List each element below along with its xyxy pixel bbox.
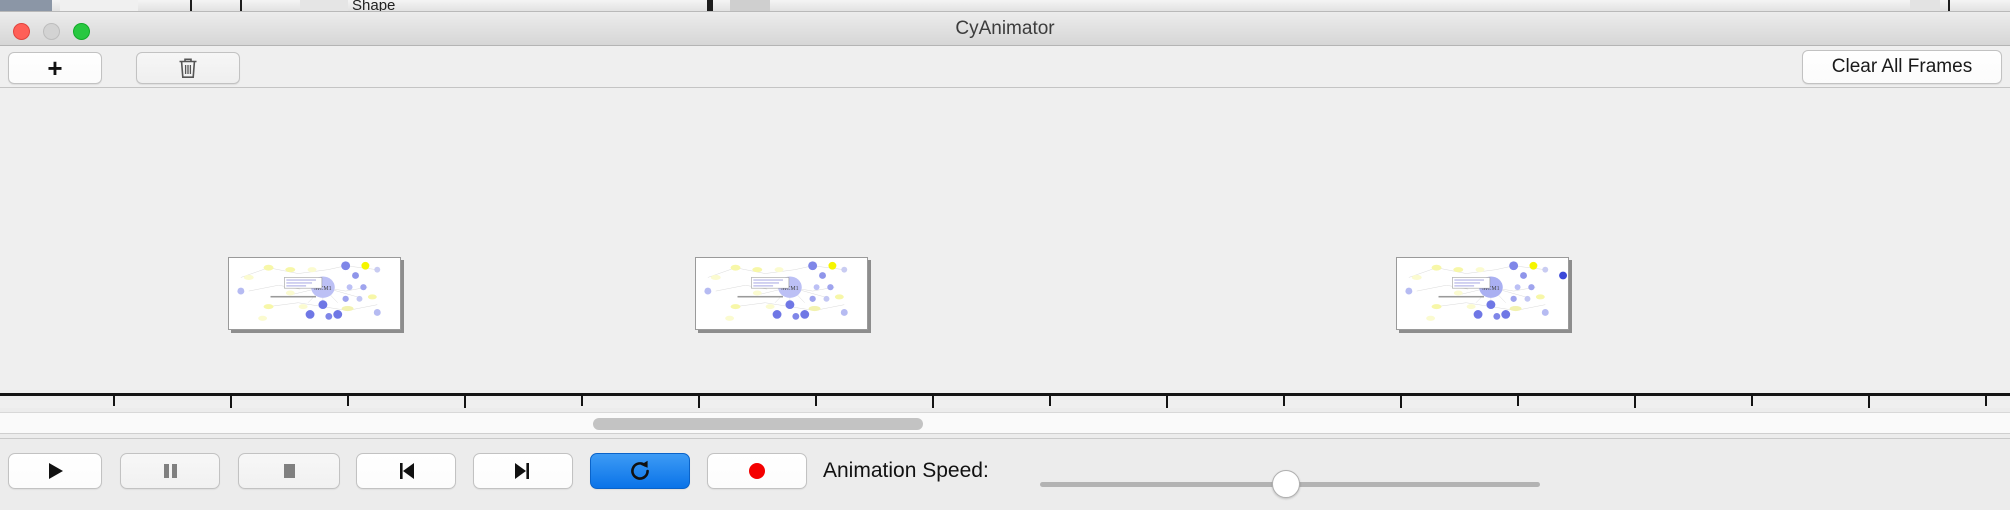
ruler-tick-minor <box>347 396 349 406</box>
ruler-tick-minor <box>1049 396 1051 406</box>
pause-button[interactable] <box>120 453 220 489</box>
skip-forward-icon <box>511 459 535 483</box>
pause-icon <box>158 459 182 483</box>
bg-tick <box>707 0 713 12</box>
add-frame-button[interactable]: + <box>8 52 102 84</box>
timeline-panel[interactable]: MCM1 <box>0 88 2010 408</box>
timeline-frame-thumbnail[interactable]: MCM1 <box>228 257 401 330</box>
ruler-tick-major <box>1166 396 1168 408</box>
playback-toolbar: Animation Speed: <box>0 438 2010 510</box>
animation-speed-slider-thumb[interactable] <box>1272 470 1300 498</box>
network-thumbnail-graphic: MCM1 <box>1397 258 1568 329</box>
record-icon <box>745 459 769 483</box>
toolbar: + Clear All Frames <box>0 46 2010 88</box>
ruler-tick-minor <box>113 396 115 406</box>
background-app-label: Shape <box>352 0 395 12</box>
ruler-tick-minor <box>1751 396 1753 406</box>
ruler-tick-minor <box>815 396 817 406</box>
bg-chip <box>0 0 52 12</box>
ruler-tick-minor <box>1985 396 1987 406</box>
ruler-tick-major <box>1868 396 1870 408</box>
previous-frame-button[interactable] <box>356 453 456 489</box>
ruler-tick-major <box>698 396 700 408</box>
stop-icon <box>277 459 301 483</box>
play-icon <box>43 459 67 483</box>
bg-tick <box>240 0 242 12</box>
ruler-baseline <box>0 393 2010 396</box>
ruler-tick-major <box>1634 396 1636 408</box>
timeline-horizontal-scrollbar[interactable] <box>0 412 2010 434</box>
plus-icon: + <box>47 55 62 81</box>
ruler-tick-major <box>1400 396 1402 408</box>
loop-icon <box>627 458 653 484</box>
clear-all-frames-button[interactable]: Clear All Frames <box>1802 50 2002 84</box>
window-titlebar: CyAnimator <box>0 12 2010 46</box>
network-thumbnail-graphic: MCM1 <box>696 258 867 329</box>
ruler-tick-minor <box>581 396 583 406</box>
ruler-tick-major <box>464 396 466 408</box>
bg-tick <box>190 0 192 12</box>
bg-chip <box>60 0 138 12</box>
timeline-ruler[interactable]: 2 13 14 15 16 17 18 <box>0 393 2010 394</box>
timeline-frame-thumbnail[interactable]: MCM1 <box>695 257 868 330</box>
ruler-tick-major <box>932 396 934 408</box>
timeline-frame-thumbnail[interactable]: MCM1 <box>1396 257 1569 330</box>
play-button[interactable] <box>8 453 102 489</box>
trash-icon <box>177 56 199 80</box>
next-frame-button[interactable] <box>473 453 573 489</box>
scrollbar-thumb[interactable] <box>593 418 923 430</box>
ruler-tick-major <box>230 396 232 408</box>
skip-back-icon <box>394 459 418 483</box>
background-app-strip: Shape <box>0 0 2010 12</box>
bg-chip <box>730 0 770 12</box>
stop-button[interactable] <box>238 453 340 489</box>
ruler-tick-minor <box>1517 396 1519 406</box>
delete-frame-button[interactable] <box>136 52 240 84</box>
record-button[interactable] <box>707 453 807 489</box>
animation-speed-label: Animation Speed: <box>823 459 989 483</box>
loop-button[interactable] <box>590 453 690 489</box>
bg-chip <box>1910 0 1940 12</box>
window-title: CyAnimator <box>0 12 2010 46</box>
bg-chip <box>300 0 348 12</box>
ruler-tick-minor <box>1283 396 1285 406</box>
network-thumbnail-graphic: MCM1 <box>229 258 400 329</box>
bg-tick <box>1948 0 1950 12</box>
